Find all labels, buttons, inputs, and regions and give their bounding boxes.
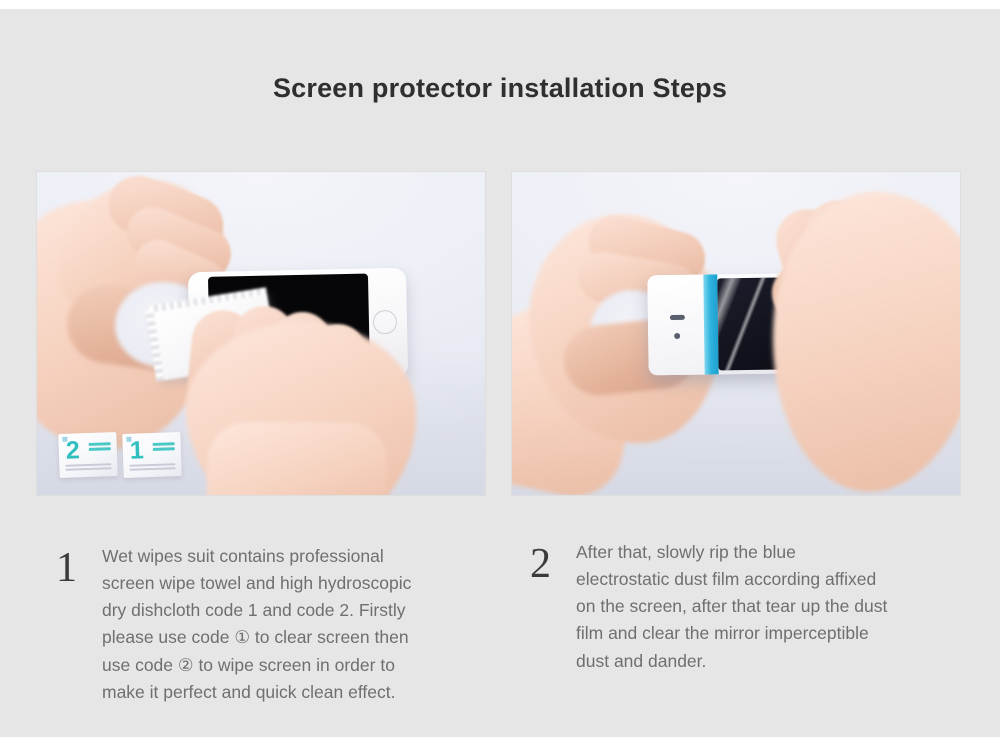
step-item-1: 1 Wet wipes suit contains professional s… [56, 543, 486, 706]
phone-speaker [670, 315, 685, 320]
sachet-number: 2 [65, 438, 80, 463]
step-number-1: 1 [56, 543, 102, 589]
step-number-2: 2 [530, 539, 576, 585]
step-2-scene [512, 172, 960, 495]
wipe-sachet-1: 1 [122, 432, 182, 478]
electrostatic-film-strip [703, 274, 718, 374]
step-1-scene: 2 1 [37, 172, 485, 495]
sachet-footer-lines [129, 463, 175, 473]
sachet-text-lines [89, 442, 111, 453]
wipe-sachet-2: 2 [58, 432, 118, 478]
step-item-2: 2 After that, slowly rip the blue electr… [530, 539, 950, 675]
phone-side-panel [647, 275, 704, 376]
step-1-photo: 2 1 [37, 172, 485, 495]
phone-camera [674, 333, 680, 339]
step-text-2: After that, slowly rip the blue electros… [576, 539, 887, 675]
right-wrist [207, 422, 387, 495]
sachet-number: 1 [129, 438, 144, 463]
top-white-strip [0, 0, 1000, 9]
page-body: Screen protector installation Steps [0, 9, 1000, 737]
page-title: Screen protector installation Steps [0, 73, 1000, 104]
home-button-icon [373, 310, 397, 334]
sachet-footer-lines [65, 463, 111, 473]
step-2-photo [512, 172, 960, 495]
sachet-text-lines [153, 442, 175, 453]
step-text-1: Wet wipes suit contains professional scr… [102, 543, 411, 706]
